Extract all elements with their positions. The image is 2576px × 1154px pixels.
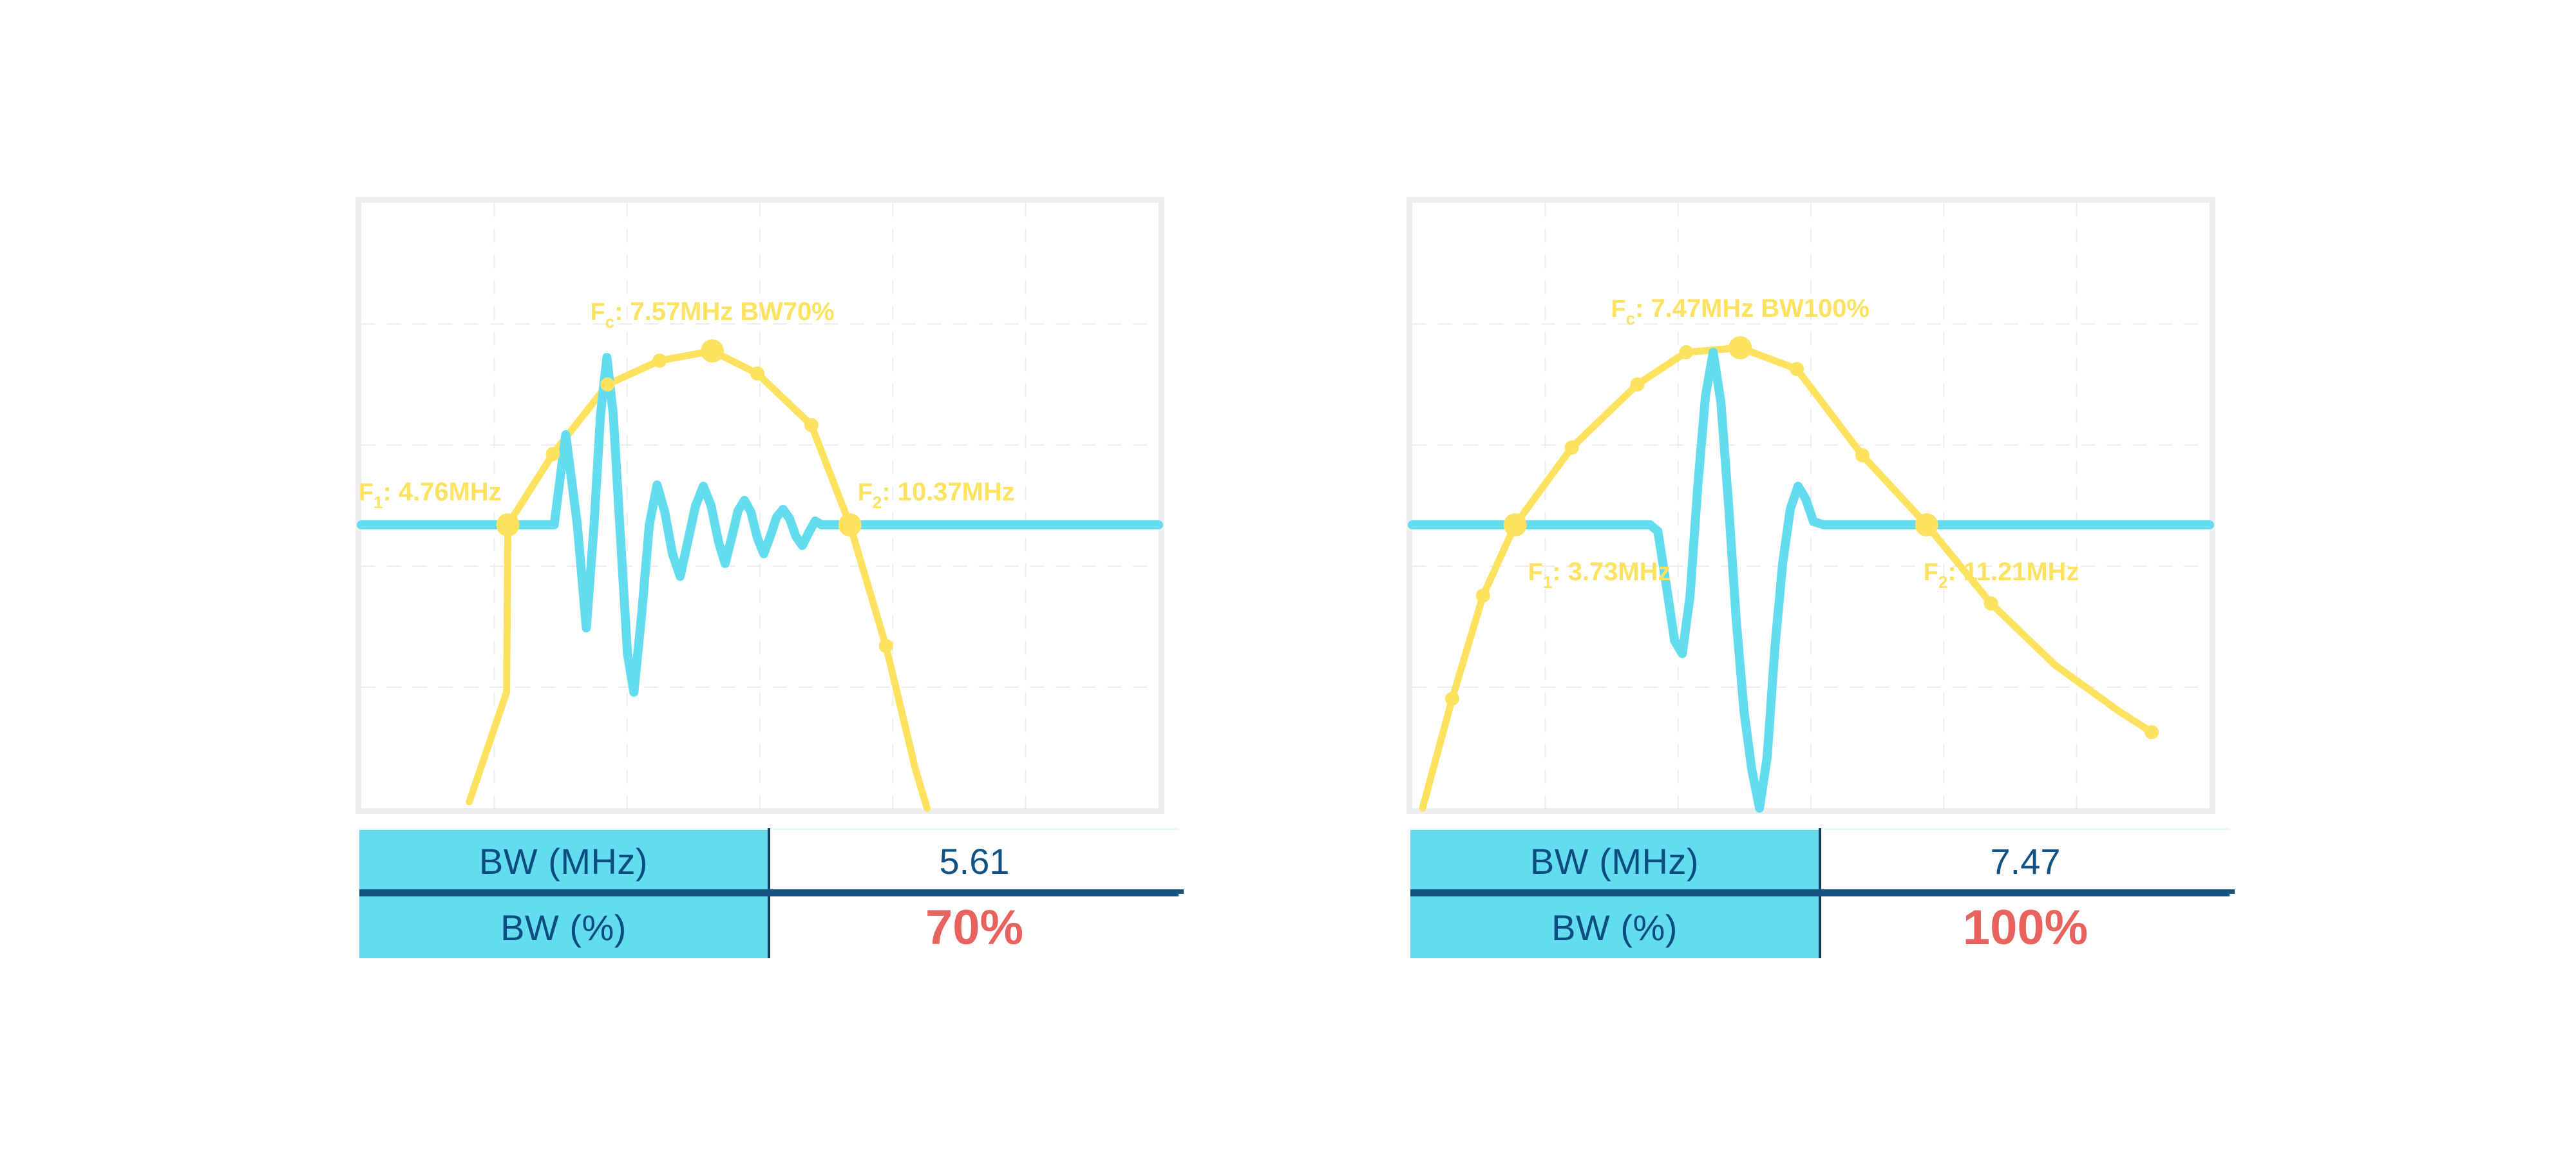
chart-panel-right: Fc: 7.47MHz BW100%F1: 3.73MHzF2: 11.21MH… [1406,197,2215,814]
annotation-f2-subscript: 2 [873,493,882,512]
data-point-marker [1679,345,1693,359]
data-point-marker [1565,440,1579,455]
chart-canvas-left: Fc: 7.57MHz BW70%F1: 4.76MHzF2: 10.37MHz [361,203,1159,808]
annotation-fc-subscript: c [605,312,614,332]
annotation-fc-prefix: F [1611,296,1625,323]
annotation-f1-text: : 3.73MHz [1552,558,1671,586]
data-point-marker [1445,692,1459,706]
bw-mhz-label-right: BW (MHz) [1410,829,1820,894]
marker-fc [1728,336,1752,359]
annotation-fc-text: : 7.57MHz BW70% [614,298,835,326]
chart-panel-left: Fc: 7.57MHz BW70%F1: 4.76MHzF2: 10.37MHz [355,197,1164,814]
bw-mhz-value-right: 7.47 [1820,829,2230,894]
data-point-marker [600,377,614,392]
data-point-marker [1476,589,1490,603]
chart-frame-left: Fc: 7.57MHz BW70%F1: 4.76MHzF2: 10.37MHz [355,197,1164,814]
data-point-marker [1790,362,1804,376]
annotation-fc: Fc: 7.57MHz BW70% [590,298,834,332]
data-point-marker [1855,448,1870,462]
annotation-f1-subscript: 1 [374,493,383,512]
annotation-f2-prefix: F [858,479,873,506]
data-point-marker [804,418,819,432]
marker-f2 [838,513,862,536]
data-point-marker [546,447,560,461]
marker-fc [701,339,724,363]
annotation-f1-text: : 4.76MHz [383,478,502,506]
annotation-f1-prefix: F [1528,559,1543,586]
annotation-f1: F1: 4.76MHz [359,478,502,512]
spectrum-curve [469,351,927,808]
data-point-marker [652,354,667,368]
chart-canvas-right: Fc: 7.47MHz BW100%F1: 3.73MHzF2: 11.21MH… [1412,203,2210,808]
marker-f1 [497,513,520,536]
bw-pct-label-left: BW (%) [359,894,769,959]
annotation-fc-prefix: F [590,299,605,326]
data-point-marker [1630,377,1644,392]
annotation-f2: F2: 11.21MHz [1924,558,2079,592]
annotation-f1: F1: 3.73MHz [1528,558,1671,592]
table-row: BW (MHz) 7.47 [1410,829,2230,894]
marker-f1 [1504,513,1527,536]
data-point-marker [879,639,893,653]
annotation-fc-text: : 7.47MHz BW100% [1635,294,1870,323]
annotation-f1-subscript: 1 [1543,572,1552,592]
table-row: BW (%) 100% [1410,894,2230,959]
table-divider-left [359,889,1184,894]
annotation-f2-text: : 10.37MHz [882,478,1014,506]
bw-pct-value-right: 100% [1820,894,2230,959]
marker-f2 [1915,513,1938,536]
annotation-f2-prefix: F [1924,559,1938,586]
annotation-f1-prefix: F [359,479,374,506]
spectrum-markers [1445,341,2159,739]
annotation-f2-text: : 11.21MHz [1947,558,2079,586]
screenshot-canvas: Fc: 7.57MHz BW70%F1: 4.76MHzF2: 10.37MHz… [0,0,2576,1154]
data-point-marker [1984,596,1998,610]
annotation-f2-subscript: 2 [1938,572,1947,592]
bw-pct-label-right: BW (%) [1410,894,1820,959]
table-row: BW (%) 70% [359,894,1179,959]
chart-frame-right: Fc: 7.47MHz BW100%F1: 3.73MHzF2: 11.21MH… [1406,197,2215,814]
data-point-marker [750,366,764,381]
table-row: BW (MHz) 5.61 [359,829,1179,894]
table-divider-right [1410,889,2235,894]
annotation-fc-subscript: c [1626,309,1635,328]
data-point-marker [2145,725,2159,739]
annotation-f2: F2: 10.37MHz [858,478,1015,512]
bw-pct-value-left: 70% [769,894,1179,959]
bw-mhz-value-left: 5.61 [769,829,1179,894]
bw-mhz-label-left: BW (MHz) [359,829,769,894]
